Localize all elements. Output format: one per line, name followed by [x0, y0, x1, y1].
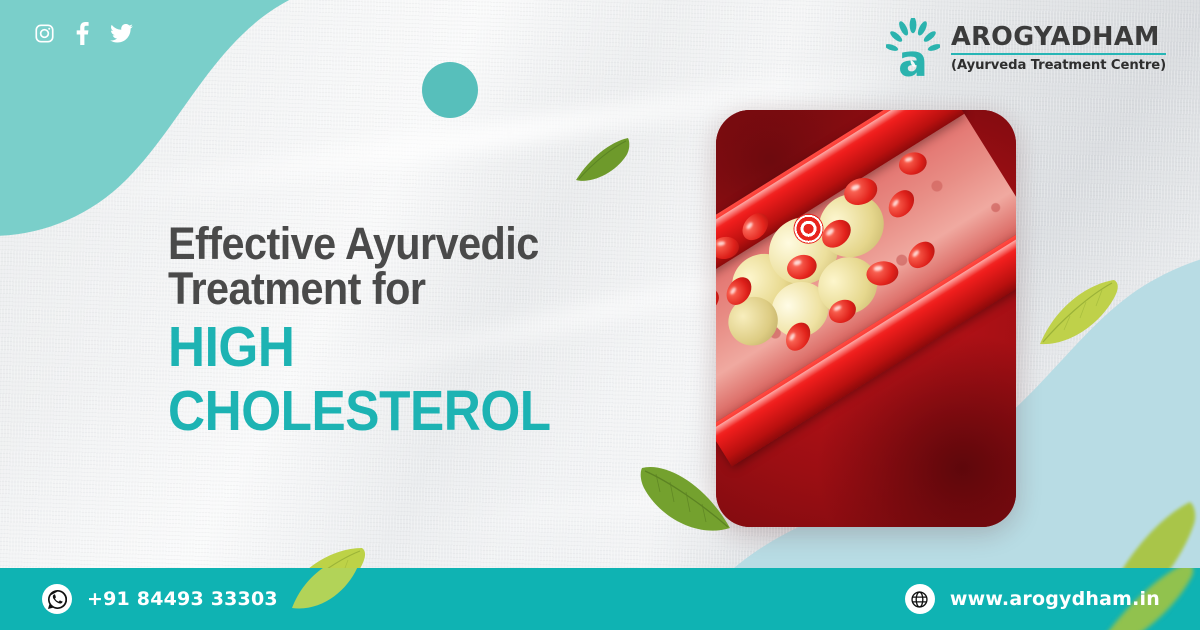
website-contact[interactable]: www.arogydham.in [905, 584, 1160, 614]
brand-divider [951, 53, 1166, 55]
headline-block: Effective Ayurvedic Treatment for HIGH C… [168, 222, 688, 444]
teal-dot [422, 62, 478, 118]
cholesterol-artery-illustration [716, 110, 1016, 527]
arogyadham-tree-leaf-logo: a [886, 18, 940, 80]
whatsapp-icon [42, 584, 72, 614]
brand-tagline: (Ayurveda Treatment Centre) [951, 58, 1166, 74]
social-links [34, 22, 133, 45]
contact-footer-bar: +91 84493 33303 www.arogydham.in [0, 568, 1200, 630]
headline-accent: HIGH CHOLESTEROL [168, 316, 636, 444]
phone-number: +91 84493 33303 [87, 588, 278, 610]
twitter-icon[interactable] [110, 24, 133, 43]
headline-line-2: Treatment for [168, 267, 646, 312]
blood-vessel [716, 110, 1016, 527]
globe-icon [905, 584, 935, 614]
leaf-top-center [566, 132, 636, 200]
leaf-mid-center [634, 452, 738, 548]
phone-contact[interactable]: +91 84493 33303 [42, 584, 278, 614]
website-url: www.arogydham.in [950, 588, 1160, 610]
brand-logo[interactable]: a AROGYADHAM (Ayurveda Treatment Centre) [886, 18, 1166, 80]
svg-text:a: a [898, 36, 928, 80]
banner-canvas: a AROGYADHAM (Ayurveda Treatment Centre)… [0, 0, 1200, 630]
brand-name: AROGYADHAM [951, 24, 1166, 53]
facebook-icon[interactable] [76, 22, 89, 45]
footer-leaf-left [288, 568, 362, 620]
headline-line-1: Effective Ayurvedic [168, 222, 646, 267]
leaf-right-upper [1036, 274, 1122, 360]
instagram-icon[interactable] [34, 23, 55, 44]
